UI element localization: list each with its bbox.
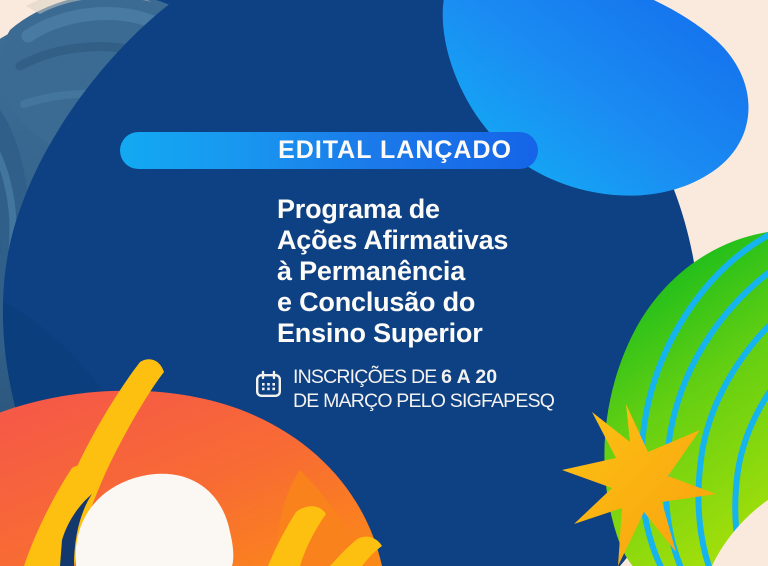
registration-line-2: DE MARÇO PELO SIGFAPESQ [293, 390, 554, 414]
page-title: Programa de Ações Afirmativas à Permanên… [277, 194, 508, 349]
headline-line-1: Programa de [277, 194, 508, 225]
headline-line-3: à Permanência [277, 256, 508, 287]
headline-line-4: e Conclusão do [277, 287, 508, 318]
registration-text: INSCRIÇÕES DE 6 A 20 DE MARÇO PELO SIGFA… [293, 366, 554, 414]
registration-line-1: INSCRIÇÕES DE 6 A 20 [293, 366, 554, 390]
badge-label: EDITAL LANÇADO [278, 138, 512, 163]
registration-dates: 6 A 20 [441, 366, 497, 388]
headline-line-2: Ações Afirmativas [277, 225, 508, 256]
registration-info: INSCRIÇÕES DE 6 A 20 DE MARÇO PELO SIGFA… [255, 366, 554, 414]
edital-lancado-badge: EDITAL LANÇADO [120, 132, 538, 169]
poster-canvas: EDITAL LANÇADO Programa de Ações Afirmat… [0, 0, 768, 566]
headline-line-5: Ensino Superior [277, 318, 508, 349]
calendar-icon [255, 370, 282, 398]
registration-prefix: INSCRIÇÕES DE [293, 366, 441, 388]
